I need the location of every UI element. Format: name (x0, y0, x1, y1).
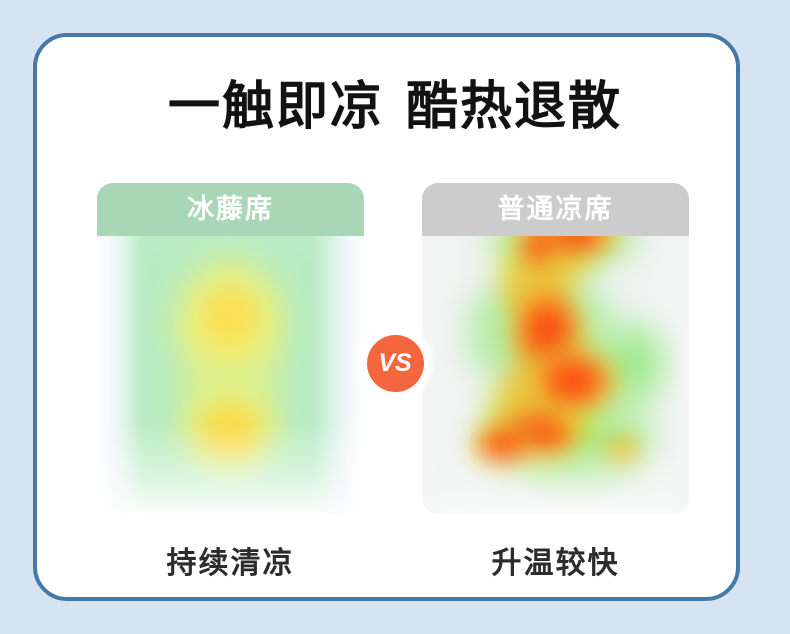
page-title: 一触即凉酷热退散 (0, 77, 790, 137)
product-card-ice-rattan[interactable]: 冰藤席 (97, 183, 364, 514)
card-header-right: 普通凉席 (422, 183, 689, 236)
caption-left: 持续清凉 (97, 538, 364, 582)
page-title-part1: 一触即凉 (168, 78, 384, 136)
caption-right: 升温较快 (422, 538, 689, 582)
product-card-ordinary-mat[interactable]: 普通凉席 (422, 183, 689, 514)
page-title-part2: 酷热退散 (406, 78, 622, 136)
vs-badge: VS (361, 329, 429, 397)
vs-label: VS (367, 335, 424, 392)
card-header-left: 冰藤席 (97, 183, 364, 236)
comparison-poster: 一触即凉酷热退散 (0, 0, 790, 634)
